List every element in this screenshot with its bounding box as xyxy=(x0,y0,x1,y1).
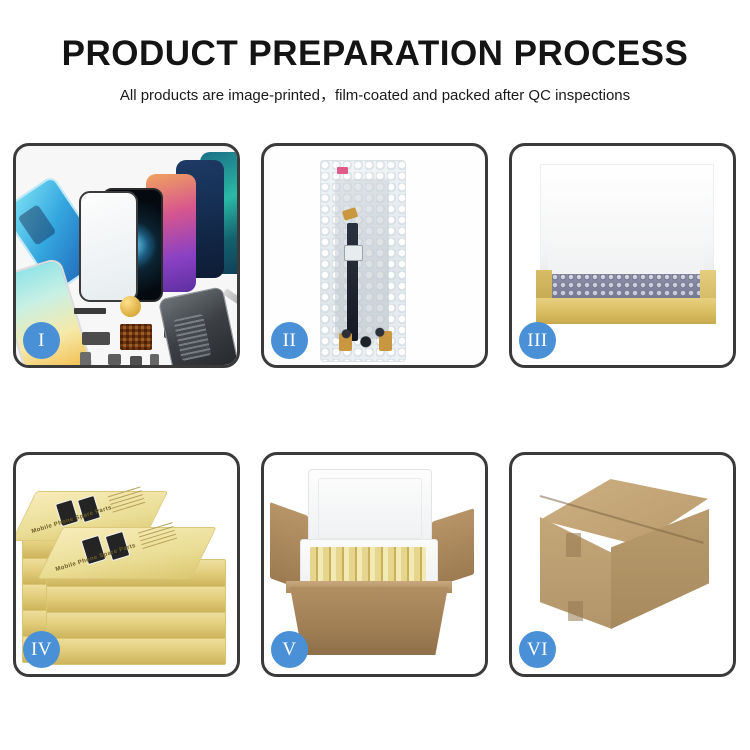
product-preparation-infographic: PRODUCT PREPARATION PROCESS All products… xyxy=(0,0,750,750)
part-flex-cable-1 xyxy=(82,332,110,345)
part-vibrator xyxy=(130,356,142,365)
step-badge-1: I xyxy=(23,322,60,359)
process-step-panel-4: Mobile Phone Spare Parts Mobile Phone Sp… xyxy=(13,452,240,677)
part-speaker xyxy=(80,352,91,365)
process-step-panel-5: V xyxy=(261,452,488,677)
page-title: PRODUCT PREPARATION PROCESS xyxy=(0,36,750,73)
gold-tray-front-wall xyxy=(536,298,716,324)
qc-pink-label xyxy=(337,167,348,174)
page-subtitle: All products are image-printed，film-coat… xyxy=(0,84,750,105)
process-step-panel-3: III xyxy=(509,143,736,368)
process-step-panel-1: I xyxy=(13,143,240,368)
carton-flap-right xyxy=(432,508,474,588)
part-camera-module xyxy=(108,354,121,365)
header: PRODUCT PREPARATION PROCESS All products… xyxy=(0,0,750,105)
step-badge-2: II xyxy=(271,322,308,359)
screen-glass-protector xyxy=(79,191,138,302)
carton-tape-lower xyxy=(568,601,583,621)
carton-front-face xyxy=(290,587,448,655)
gold-box-r3 xyxy=(46,611,226,639)
gold-box-r4 xyxy=(46,637,226,665)
driver-ic-chips xyxy=(335,321,391,353)
part-antenna-strip xyxy=(74,308,106,314)
step-badge-6: VI xyxy=(519,631,556,668)
carton-tape-upper xyxy=(566,533,581,557)
step-badge-5: V xyxy=(271,631,308,668)
part-button-set xyxy=(150,354,159,365)
part-contact-grid xyxy=(120,324,152,350)
part-gold-coil xyxy=(120,296,141,317)
step-badge-3: III xyxy=(519,322,556,359)
foam-box-lid xyxy=(308,469,432,549)
process-step-panel-2: II xyxy=(261,143,488,368)
bubble-wrap-bag xyxy=(320,160,406,362)
process-step-panel-6: VI xyxy=(509,452,736,677)
gold-box-r2 xyxy=(46,585,226,613)
foam-sheet xyxy=(548,192,704,278)
step-badge-4: IV xyxy=(23,631,60,668)
process-steps-grid: I II xyxy=(13,143,737,683)
